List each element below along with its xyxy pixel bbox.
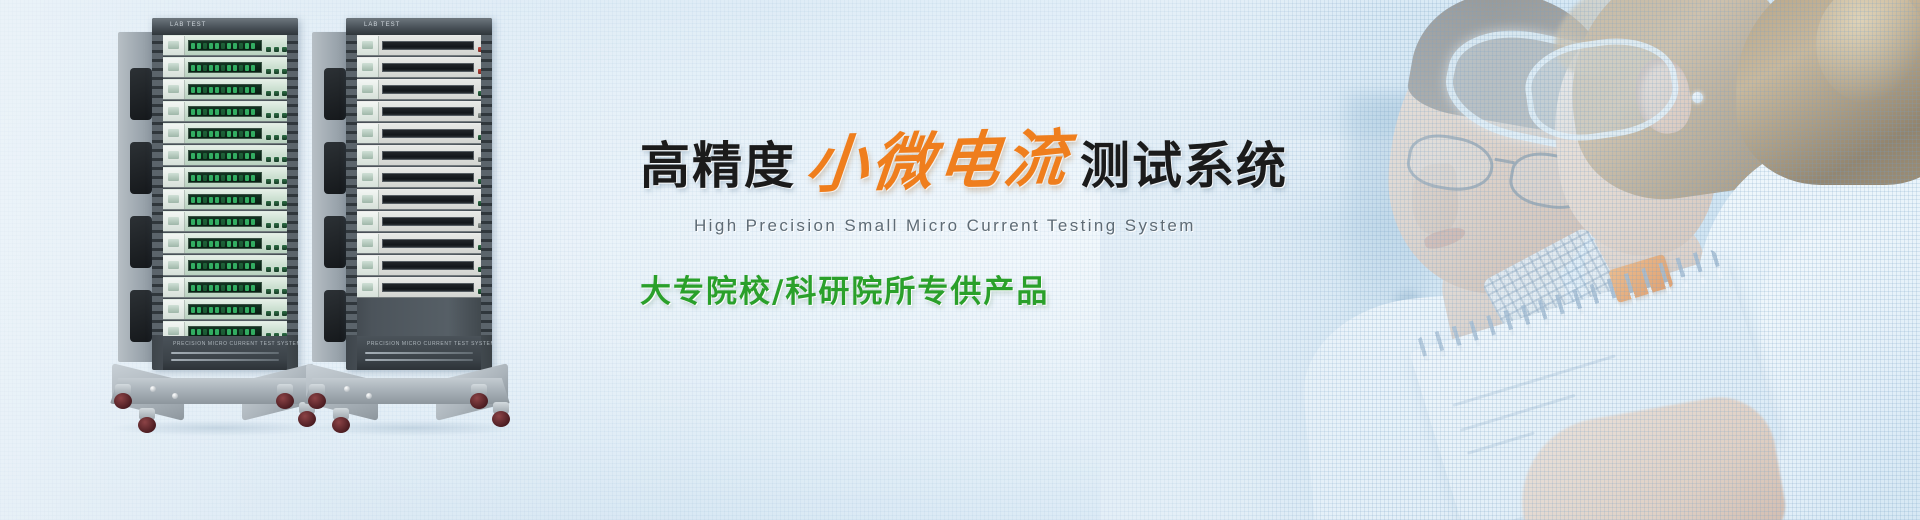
- display-segment: [245, 131, 249, 137]
- unit-button: [478, 289, 481, 294]
- unit-button: [266, 113, 271, 118]
- rack-1-units: [163, 35, 287, 365]
- caster-tyre: [138, 417, 156, 433]
- display-segment: [215, 87, 219, 93]
- unit-left-bezel: [163, 36, 185, 55]
- display-segment: [233, 219, 237, 225]
- unit-display: [382, 173, 474, 182]
- rack-bottom-label: PRECISION MICRO CURRENT TEST SYSTEM: [173, 341, 298, 347]
- unit-button-row: [474, 146, 481, 165]
- unit-indicator: [168, 239, 179, 247]
- unit-button: [274, 201, 279, 206]
- display-segment: [197, 43, 201, 49]
- display-segment: [203, 131, 207, 137]
- display-segment: [215, 219, 219, 225]
- unit-button: [274, 179, 279, 184]
- display-segment: [239, 175, 243, 181]
- display-segment: [251, 219, 255, 225]
- unit-left-bezel: [357, 146, 379, 165]
- display-segment: [251, 65, 255, 71]
- unit-indicator: [168, 41, 179, 49]
- display-segment: [245, 153, 249, 159]
- caster-wheel: [136, 408, 158, 434]
- unit-display: [382, 217, 474, 226]
- display-segment: [191, 87, 195, 93]
- unit-indicator: [362, 85, 373, 93]
- instrument-unit: [163, 123, 287, 144]
- instrument-unit: [357, 233, 481, 254]
- display-segment: [203, 219, 207, 225]
- rack-vent-slot: [130, 142, 152, 194]
- unit-button: [478, 201, 481, 206]
- unit-left-bezel: [357, 256, 379, 275]
- unit-display: [188, 106, 262, 117]
- unit-left-bezel: [357, 278, 379, 297]
- display-segment: [203, 65, 207, 71]
- display-segment: [227, 43, 231, 49]
- display-segment: [227, 263, 231, 269]
- unit-display: [188, 238, 262, 249]
- display-segment: [251, 197, 255, 203]
- unit-display: [188, 194, 262, 205]
- display-segment: [203, 263, 207, 269]
- rack-mount-rail-right: [481, 35, 492, 335]
- display-segment: [215, 153, 219, 159]
- unit-indicator: [362, 195, 373, 203]
- unit-button-row: [262, 168, 287, 187]
- instrument-unit: [357, 123, 481, 144]
- unit-button: [274, 245, 279, 250]
- headline-lead: 高精度: [640, 126, 796, 198]
- unit-button: [274, 113, 279, 118]
- base-bolt: [344, 386, 350, 392]
- instrument-unit: [357, 35, 481, 56]
- rack-body: LAB TEST PRECISION MICRO CURRENT TEST SY…: [346, 18, 492, 370]
- display-segment: [245, 65, 249, 71]
- rack-bottom-label: PRECISION MICRO CURRENT TEST SYSTEM: [367, 341, 492, 347]
- display-segment: [227, 329, 231, 335]
- unit-left-bezel: [357, 168, 379, 187]
- rack-base: [304, 350, 510, 430]
- unit-indicator: [168, 261, 179, 269]
- display-segment: [221, 263, 225, 269]
- display-segment: [221, 87, 225, 93]
- display-segment: [197, 131, 201, 137]
- display-segment: [209, 87, 213, 93]
- display-segment: [203, 87, 207, 93]
- display-segment: [197, 109, 201, 115]
- display-segment: [203, 175, 207, 181]
- unit-indicator: [362, 41, 373, 49]
- unit-display: [188, 304, 262, 315]
- unit-display: [382, 283, 474, 292]
- rack-brand-label: LAB TEST: [170, 22, 206, 28]
- unit-button: [266, 267, 271, 272]
- unit-button: [274, 91, 279, 96]
- unit-indicator: [362, 217, 373, 225]
- display-segment: [239, 285, 243, 291]
- display-segment: [203, 43, 207, 49]
- unit-button-row: [474, 256, 481, 275]
- headline: 高精度 小微电流 测试系统: [640, 126, 1380, 198]
- display-segment: [203, 241, 207, 247]
- display-segment: [227, 131, 231, 137]
- unit-display: [188, 128, 262, 139]
- display-segment: [239, 329, 243, 335]
- unit-left-bezel: [163, 124, 185, 143]
- display-segment: [239, 241, 243, 247]
- rack-top-cap: LAB TEST: [346, 18, 492, 35]
- unit-display: [188, 40, 262, 51]
- product-banner: LAB TEST PRECISION MICRO CURRENT TEST SY…: [0, 0, 1920, 520]
- display-segment: [233, 109, 237, 115]
- unit-left-bezel: [357, 58, 379, 77]
- display-segment: [233, 65, 237, 71]
- unit-button-row: [262, 278, 287, 297]
- display-segment: [251, 131, 255, 137]
- display-segment: [197, 65, 201, 71]
- unit-display: [382, 85, 474, 94]
- unit-indicator: [362, 129, 373, 137]
- display-segment: [191, 329, 195, 335]
- unit-indicator: [168, 217, 179, 225]
- unit-left-bezel: [357, 124, 379, 143]
- unit-left-bezel: [357, 102, 379, 121]
- unit-indicator: [362, 261, 373, 269]
- display-segment: [191, 175, 195, 181]
- unit-button: [282, 91, 287, 96]
- display-segment: [215, 329, 219, 335]
- display-segment: [191, 307, 195, 313]
- unit-button: [266, 69, 271, 74]
- caster-wheel: [468, 384, 490, 410]
- display-segment: [191, 285, 195, 291]
- unit-button: [274, 69, 279, 74]
- banner-copy: 高精度 小微电流 测试系统 High Precision Small Micro…: [640, 126, 1380, 311]
- instrument-unit: [357, 211, 481, 232]
- base-bolt: [172, 393, 178, 399]
- display-segment: [197, 219, 201, 225]
- unit-button: [478, 179, 481, 184]
- display-segment: [203, 109, 207, 115]
- unit-indicator: [168, 151, 179, 159]
- unit-left-bezel: [357, 36, 379, 55]
- instrument-unit: [163, 277, 287, 298]
- display-segment: [209, 197, 213, 203]
- unit-button: [282, 245, 287, 250]
- display-segment: [221, 329, 225, 335]
- instrument-unit: [163, 101, 287, 122]
- unit-button: [266, 245, 271, 250]
- caster-wheel: [490, 402, 512, 428]
- unit-button: [266, 135, 271, 140]
- display-segment: [239, 87, 243, 93]
- display-segment: [215, 241, 219, 247]
- display-segment: [221, 65, 225, 71]
- display-segment: [227, 307, 231, 313]
- display-segment: [227, 197, 231, 203]
- display-segment: [191, 43, 195, 49]
- unit-button-row: [262, 80, 287, 99]
- unit-left-bezel: [163, 146, 185, 165]
- instrument-unit: [163, 35, 287, 56]
- unit-button: [282, 223, 287, 228]
- unit-button: [478, 135, 481, 140]
- instrument-unit: [163, 79, 287, 100]
- unit-button-row: [262, 36, 287, 55]
- unit-button: [478, 157, 481, 162]
- unit-display: [382, 151, 474, 160]
- display-segment: [191, 241, 195, 247]
- unit-button: [282, 113, 287, 118]
- display-segment: [215, 43, 219, 49]
- rack-brand-label: LAB TEST: [364, 22, 400, 28]
- instrument-unit: [357, 277, 481, 298]
- display-segment: [221, 43, 225, 49]
- display-segment: [221, 241, 225, 247]
- unit-button: [274, 135, 279, 140]
- instrument-unit: [163, 145, 287, 166]
- display-segment: [197, 87, 201, 93]
- display-segment: [215, 65, 219, 71]
- display-segment: [251, 329, 255, 335]
- display-segment: [233, 153, 237, 159]
- rack-vent-slot: [130, 68, 152, 120]
- display-segment: [239, 307, 243, 313]
- display-segment: [191, 219, 195, 225]
- unit-button-row: [474, 212, 481, 231]
- instrument-unit: [357, 145, 481, 166]
- unit-indicator: [168, 305, 179, 313]
- display-segment: [209, 153, 213, 159]
- unit-button-row: [262, 124, 287, 143]
- display-segment: [197, 241, 201, 247]
- display-segment: [203, 153, 207, 159]
- display-segment: [251, 263, 255, 269]
- subtitle-english: High Precision Small Micro Current Testi…: [694, 216, 1380, 236]
- caster-wheel: [306, 384, 328, 410]
- unit-display: [188, 172, 262, 183]
- display-segment: [191, 65, 195, 71]
- display-segment: [209, 219, 213, 225]
- rack-mount-rail-right: [287, 35, 298, 335]
- unit-display: [188, 260, 262, 271]
- display-segment: [215, 197, 219, 203]
- unit-indicator: [362, 107, 373, 115]
- display-segment: [239, 219, 243, 225]
- display-segment: [251, 43, 255, 49]
- unit-button: [266, 223, 271, 228]
- unit-display: [188, 216, 262, 227]
- unit-button: [282, 311, 287, 316]
- unit-indicator: [362, 239, 373, 247]
- display-segment: [221, 197, 225, 203]
- unit-button-row: [474, 190, 481, 209]
- unit-button: [478, 47, 481, 52]
- unit-button: [274, 157, 279, 162]
- instrument-unit: [357, 255, 481, 276]
- unit-button-row: [474, 168, 481, 187]
- display-segment: [221, 307, 225, 313]
- display-segment: [245, 197, 249, 203]
- instrument-unit: [357, 167, 481, 188]
- unit-button-row: [262, 300, 287, 319]
- display-segment: [197, 285, 201, 291]
- unit-left-bezel: [163, 80, 185, 99]
- unit-display: [188, 84, 262, 95]
- display-segment: [197, 263, 201, 269]
- unit-indicator: [362, 63, 373, 71]
- instrument-unit: [357, 79, 481, 100]
- rack-vent-slot: [324, 142, 346, 194]
- unit-button-row: [474, 102, 481, 121]
- unit-button-row: [474, 124, 481, 143]
- rack-base: [110, 350, 316, 430]
- unit-button: [282, 157, 287, 162]
- display-segment: [203, 307, 207, 313]
- unit-button: [282, 267, 287, 272]
- display-segment: [209, 175, 213, 181]
- unit-indicator: [362, 173, 373, 181]
- display-segment: [215, 263, 219, 269]
- unit-display: [188, 282, 262, 293]
- caster-tyre: [308, 393, 326, 409]
- rack-vent-slot: [324, 68, 346, 120]
- unit-display: [382, 239, 474, 248]
- unit-button: [274, 223, 279, 228]
- unit-button-row: [262, 102, 287, 121]
- unit-left-bezel: [357, 80, 379, 99]
- caster-tyre: [470, 393, 488, 409]
- instrument-unit: [163, 167, 287, 188]
- display-segment: [209, 285, 213, 291]
- unit-button: [282, 135, 287, 140]
- rack-vent-slot: [324, 216, 346, 268]
- display-segment: [251, 153, 255, 159]
- display-segment: [233, 197, 237, 203]
- display-segment: [245, 219, 249, 225]
- caster-tyre: [114, 393, 132, 409]
- unit-button: [282, 179, 287, 184]
- rack-vent-slot: [130, 216, 152, 268]
- caster-wheel: [274, 384, 296, 410]
- display-segment: [209, 65, 213, 71]
- display-segment: [245, 307, 249, 313]
- display-segment: [209, 109, 213, 115]
- display-segment: [191, 263, 195, 269]
- unit-indicator: [362, 283, 373, 291]
- unit-button: [266, 47, 271, 52]
- instrument-unit: [163, 255, 287, 276]
- display-segment: [197, 175, 201, 181]
- rack-2-units: [357, 35, 481, 299]
- display-segment: [233, 285, 237, 291]
- unit-display: [382, 41, 474, 50]
- display-segment: [203, 197, 207, 203]
- display-segment: [227, 87, 231, 93]
- display-segment: [227, 109, 231, 115]
- unit-display: [188, 150, 262, 161]
- display-segment: [203, 329, 207, 335]
- equipment-racks: LAB TEST PRECISION MICRO CURRENT TEST SY…: [0, 0, 560, 520]
- display-segment: [197, 197, 201, 203]
- unit-button: [282, 69, 287, 74]
- instrument-unit: [163, 189, 287, 210]
- caster-wheel: [330, 408, 352, 434]
- unit-button: [266, 91, 271, 96]
- unit-left-bezel: [163, 300, 185, 319]
- display-segment: [239, 131, 243, 137]
- unit-button-row: [262, 256, 287, 275]
- display-segment: [221, 131, 225, 137]
- display-segment: [251, 241, 255, 247]
- headline-trail: 测试系统: [1080, 126, 1288, 198]
- caster-wheel: [112, 384, 134, 410]
- unit-left-bezel: [163, 212, 185, 231]
- unit-left-bezel: [163, 102, 185, 121]
- display-segment: [203, 285, 207, 291]
- unit-indicator: [168, 195, 179, 203]
- unit-button: [266, 157, 271, 162]
- display-segment: [209, 307, 213, 313]
- unit-button-row: [262, 58, 287, 77]
- unit-display: [382, 107, 474, 116]
- display-segment: [215, 307, 219, 313]
- display-segment: [245, 175, 249, 181]
- unit-button: [274, 267, 279, 272]
- display-segment: [245, 43, 249, 49]
- display-segment: [221, 285, 225, 291]
- headline-accent: 小微电流: [803, 131, 1073, 194]
- unit-left-bezel: [163, 168, 185, 187]
- display-segment: [191, 197, 195, 203]
- display-segment: [197, 329, 201, 335]
- rack-mount-rail-left: [152, 35, 163, 335]
- unit-left-bezel: [357, 234, 379, 253]
- instrument-unit: [163, 211, 287, 232]
- unit-left-bezel: [357, 190, 379, 209]
- rack-body: LAB TEST PRECISION MICRO CURRENT TEST SY…: [152, 18, 298, 370]
- unit-button: [282, 47, 287, 52]
- display-segment: [191, 153, 195, 159]
- display-segment: [221, 175, 225, 181]
- display-segment: [245, 241, 249, 247]
- display-segment: [209, 43, 213, 49]
- unit-button: [274, 311, 279, 316]
- unit-button: [274, 289, 279, 294]
- display-segment: [239, 153, 243, 159]
- display-segment: [233, 263, 237, 269]
- unit-button-row: [474, 278, 481, 297]
- unit-left-bezel: [163, 234, 185, 253]
- unit-button: [282, 289, 287, 294]
- display-segment: [215, 175, 219, 181]
- display-segment: [239, 43, 243, 49]
- unit-indicator: [168, 173, 179, 181]
- unit-button-row: [474, 58, 481, 77]
- unit-indicator: [168, 107, 179, 115]
- unit-button: [274, 47, 279, 52]
- unit-button-row: [474, 80, 481, 99]
- display-segment: [233, 87, 237, 93]
- unit-indicator: [168, 283, 179, 291]
- display-segment: [227, 219, 231, 225]
- unit-button: [266, 289, 271, 294]
- caster-tyre: [332, 417, 350, 433]
- display-segment: [233, 43, 237, 49]
- display-segment: [221, 153, 225, 159]
- rack-top-cap: LAB TEST: [152, 18, 298, 35]
